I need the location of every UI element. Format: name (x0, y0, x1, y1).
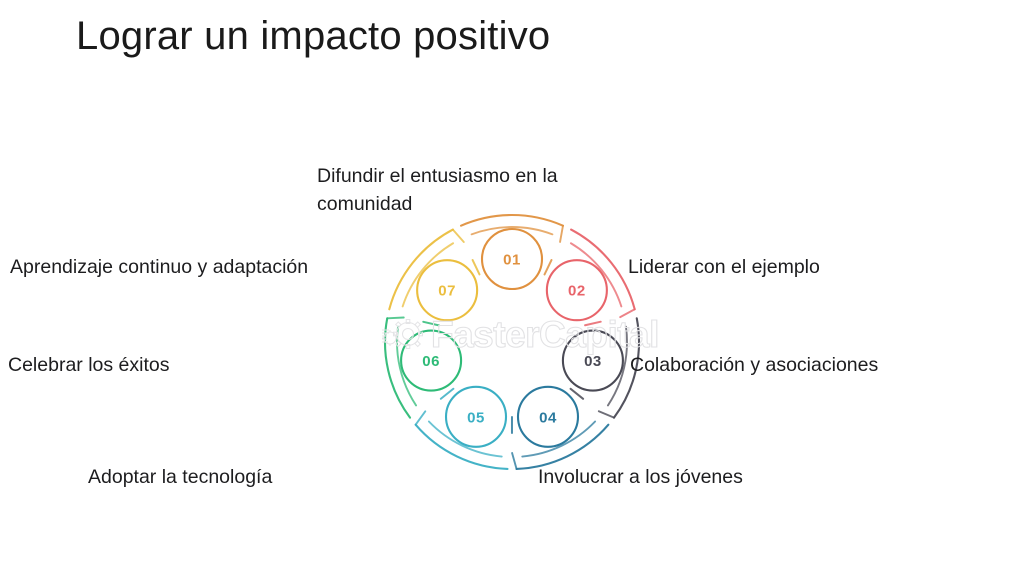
label-aprendizaje-continuo: Aprendizaje continuo y adaptación (10, 254, 390, 282)
node-number-05: 05 (467, 409, 485, 426)
node-number-06: 06 (422, 353, 440, 370)
ring-spur-02 (620, 309, 635, 317)
ring-spur-05 (416, 411, 426, 424)
ring-node-02[interactable]: 02 (547, 260, 607, 320)
label-involucrar-a-los-jovenes: Involucrar a los jóvenes (538, 464, 838, 492)
ring-spur-03 (599, 411, 614, 417)
label-liderar-con-el-ejemplo: Liderar con el ejemplo (628, 254, 928, 282)
label-difundir-el-entusiasmo: Difundir el entusiasmo en la comunidad (317, 163, 627, 218)
node-number-07: 07 (438, 283, 456, 300)
ring-node-05[interactable]: 05 (446, 387, 506, 447)
slide-canvas: Lograr un impacto positivo 0102030405060… (0, 0, 1024, 576)
node-number-02: 02 (568, 283, 586, 300)
label-colaboracion-y-asociaciones: Colaboración y asociaciones (630, 352, 950, 380)
ring-node-06[interactable]: 06 (401, 331, 461, 391)
node-number-04: 04 (539, 409, 557, 426)
connector-dash-05 (441, 389, 454, 399)
ring-node-01[interactable]: 01 (482, 229, 542, 289)
ring-spur-06 (387, 317, 404, 318)
ring-node-07[interactable]: 07 (417, 260, 477, 320)
label-adoptar-la-tecnologia: Adoptar la tecnología (88, 464, 388, 492)
connector-dash-03 (571, 389, 584, 399)
node-number-01: 01 (503, 252, 521, 269)
ring-node-04[interactable]: 04 (518, 387, 578, 447)
connector-dash-02 (585, 322, 601, 326)
ring-spur-01 (560, 226, 563, 242)
node-number-03: 03 (584, 353, 602, 370)
ring-node-03[interactable]: 03 (563, 331, 623, 391)
ring-node-circles: 01020304050607 (401, 229, 623, 447)
label-celebrar-los-exitos: Celebrar los éxitos (8, 352, 268, 380)
ring-spur-07 (453, 230, 464, 242)
connector-dash-01 (545, 260, 552, 274)
connector-dash-06 (423, 322, 439, 326)
ring-spur-04 (512, 453, 516, 469)
connector-dash-07 (473, 260, 480, 274)
cycle-diagram: 01020304050607 Fas (0, 0, 1024, 576)
